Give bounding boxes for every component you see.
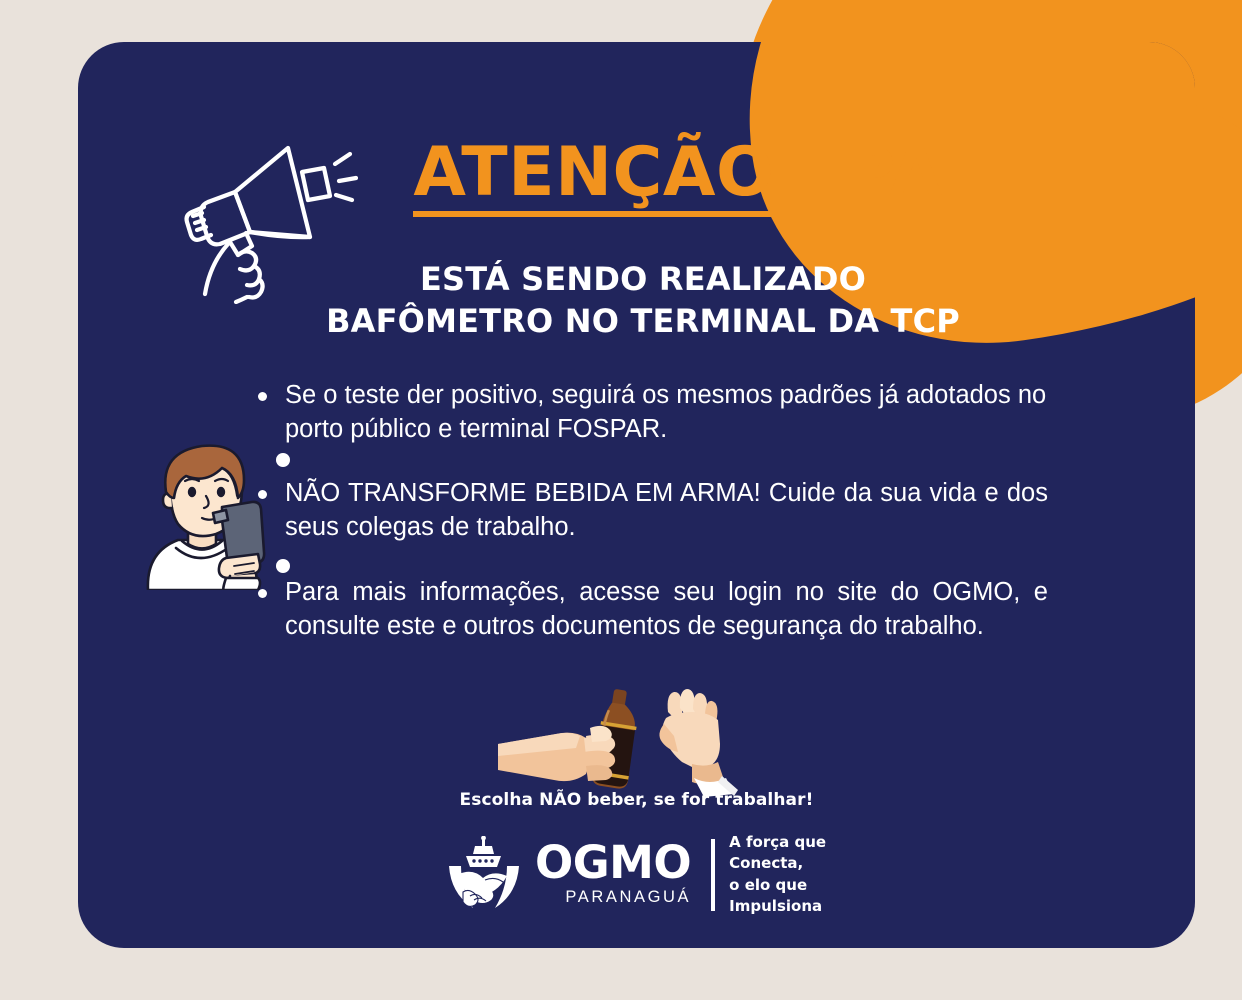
logo-tagline: A força que Conecta, o elo que Impulsion…: [729, 832, 826, 917]
subtitle: ESTÁ SENDO REALIZADO BAFÔMETRO NO TERMIN…: [238, 258, 1048, 342]
list-item: NÃO TRANSFORME BEBIDA EM ARMA! Cuide da …: [258, 476, 1048, 544]
decorative-dots: [268, 446, 298, 581]
safety-slogan: Escolha NÃO beber, se for trabalhar!: [78, 790, 1195, 810]
logo-tagline-line: Impulsiona: [729, 896, 826, 917]
bullet-text: NÃO TRANSFORME BEBIDA EM ARMA! Cuide da …: [285, 476, 1048, 544]
logo-tagline-line: o elo que: [729, 875, 826, 896]
hand-offering-beer-and-refusing-hand-illustration: [498, 682, 738, 797]
logo-subtitle: PARANAGUÁ: [565, 888, 691, 907]
bullet-text: Para mais informações, acesse seu login …: [285, 575, 1048, 643]
list-item: Se o teste der positivo, seguirá os mesm…: [258, 378, 1048, 446]
ship-handshake-emblem-icon: [447, 836, 521, 914]
subtitle-line-1: ESTÁ SENDO REALIZADO: [238, 258, 1048, 300]
subtitle-line-2: BAFÔMETRO NO TERMINAL DA TCP: [238, 300, 1048, 342]
logo-word: OGMO: [535, 842, 691, 884]
logo-divider: [711, 839, 715, 911]
poster-root: ATENÇÃO TPA ESTÁ SENDO REALIZADO BAFÔMET…: [0, 0, 1242, 1000]
ogmo-logo-lockup: OGMO PARANAGUÁ A força que Conecta, o el…: [78, 832, 1195, 917]
bullet-list: Se o teste der positivo, seguirá os mesm…: [258, 378, 1048, 643]
bullet-text: Se o teste der positivo, seguirá os mesm…: [285, 378, 1048, 446]
list-item: Para mais informações, acesse seu login …: [258, 575, 1048, 643]
title-wrap: ATENÇÃO TPA: [358, 138, 998, 217]
bullet-dot-icon: [258, 392, 267, 401]
logo-wordmark: OGMO PARANAGUÁ: [535, 842, 691, 907]
page-title: ATENÇÃO TPA: [413, 138, 942, 217]
logo-tagline-line: A força que: [729, 832, 826, 853]
header: ATENÇÃO TPA ESTÁ SENDO REALIZADO BAFÔMET…: [78, 42, 1195, 342]
announcement-card: ATENÇÃO TPA ESTÁ SENDO REALIZADO BAFÔMET…: [78, 42, 1195, 948]
logo-tagline-line: Conecta,: [729, 853, 826, 874]
